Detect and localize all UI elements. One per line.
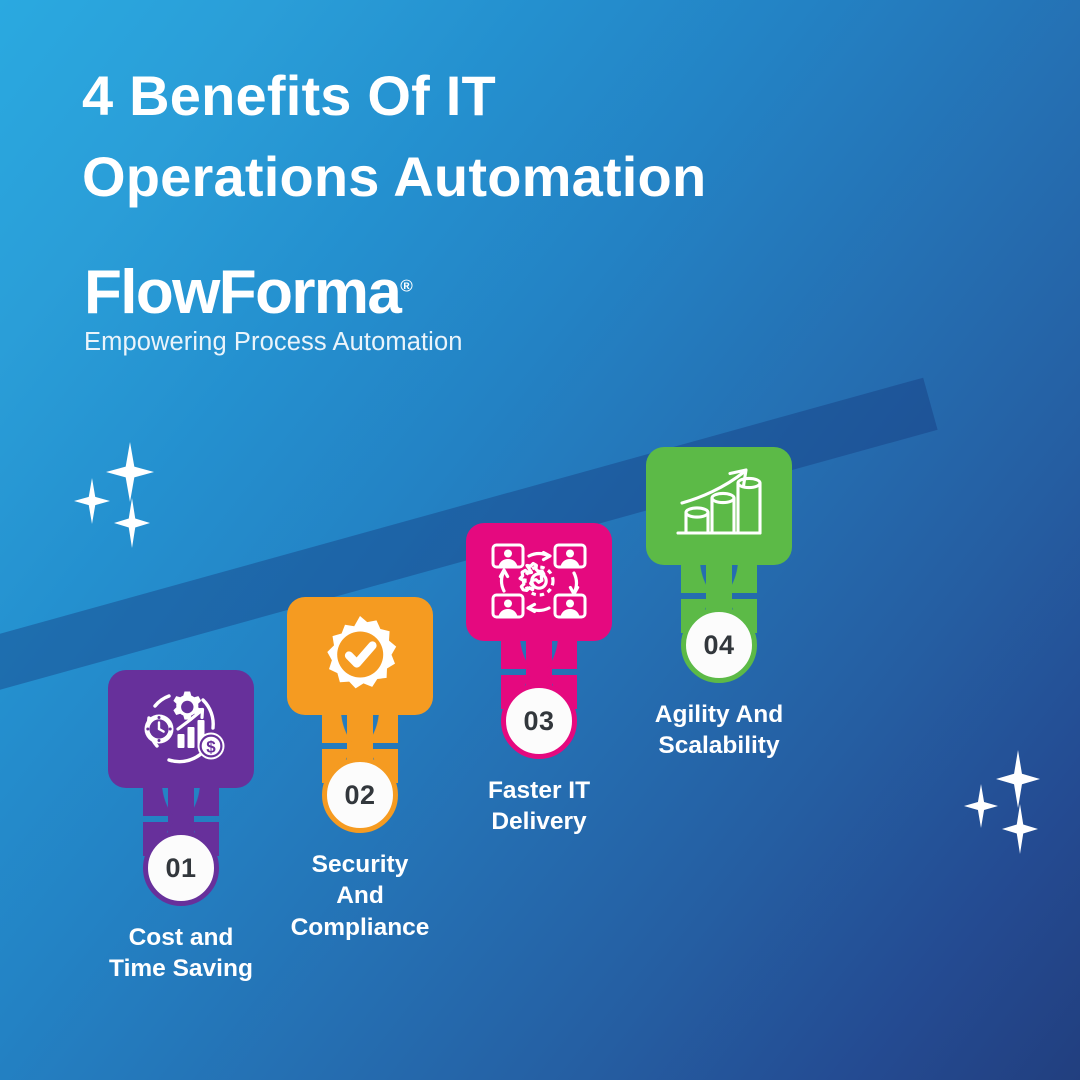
benefit-number-badge-02[interactable]: 02	[322, 757, 398, 833]
benefit-stem-flare-top-01	[143, 782, 219, 816]
sparkle-icon	[964, 784, 998, 828]
brand-logo: FlowForma® Empowering Process Automation	[84, 262, 504, 356]
benefit-card-03[interactable]	[466, 523, 612, 641]
benefit-number-badge-01[interactable]: 01	[143, 830, 219, 906]
sparkle-icon	[1002, 804, 1038, 854]
benefit-stem-flare-top-02	[322, 709, 398, 743]
benefit-card-04[interactable]	[646, 447, 792, 565]
brand-logo-wordmark: FlowForma®	[84, 262, 504, 324]
benefit-card-02[interactable]	[287, 597, 433, 715]
benefit-stem-flare-top-03	[501, 635, 577, 669]
brand-logo-name: FlowForma	[84, 258, 400, 327]
sparkle-icon	[114, 498, 150, 548]
registered-trademark-icon: ®	[400, 276, 413, 295]
benefit-card-01[interactable]: $	[108, 670, 254, 788]
cost-time-saving-icon: $	[129, 684, 233, 774]
brand-logo-tagline: Empowering Process Automation	[84, 330, 504, 356]
benefit-label-04: Agility And Scalability	[589, 699, 849, 762]
verified-badge-check-icon	[316, 612, 404, 700]
benefit-number-03: 03	[523, 706, 554, 737]
sparkle-icon	[106, 442, 154, 502]
benefit-number-badge-04[interactable]: 04	[681, 607, 757, 683]
benefit-label-02: Security And Compliance	[230, 849, 490, 943]
page-title: 4 Benefits Of ITOperations Automation	[82, 55, 872, 217]
page-title-line-1: 4 Benefits Of IT	[82, 64, 496, 127]
page-title-line-2: Operations Automation	[82, 145, 706, 208]
benefit-number-badge-03[interactable]: 03	[501, 683, 577, 759]
benefit-pin-04[interactable]: 04 Agility And Scalability	[646, 447, 792, 687]
sparkle-icon	[996, 750, 1040, 808]
sparkle-icon	[74, 478, 110, 524]
sparkle-cluster-left	[72, 440, 182, 550]
growth-bar-chart-icon	[670, 464, 768, 548]
benefit-stem-flare-top-04	[681, 559, 757, 593]
benefit-number-04: 04	[703, 630, 734, 661]
svg-text:$: $	[206, 738, 216, 757]
benefit-number-01: 01	[165, 853, 196, 884]
infographic-canvas: 4 Benefits Of ITOperations Automation Fl…	[0, 0, 1080, 1080]
sparkle-cluster-right	[962, 748, 1072, 858]
benefit-label-03: Faster IT Delivery	[409, 775, 669, 838]
benefit-number-02: 02	[344, 780, 375, 811]
workflow-users-gear-icon	[485, 537, 593, 627]
